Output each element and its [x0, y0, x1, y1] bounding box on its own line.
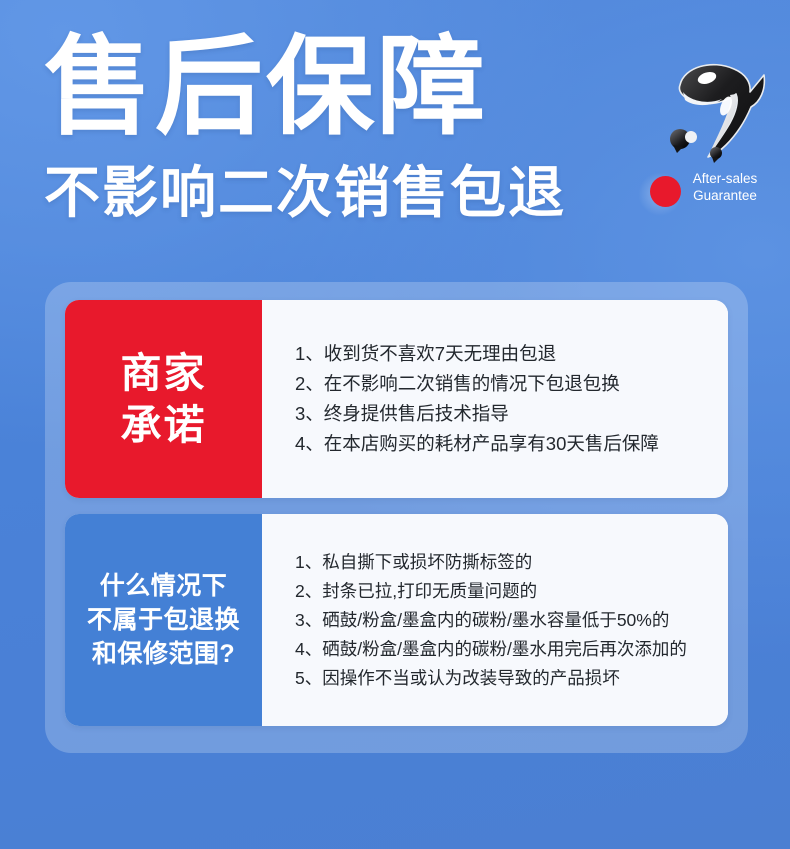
list-item: 4、硒鼓/粉盒/墨盒内的碳粉/墨水用完后再次添加的 [295, 635, 714, 664]
page-subtitle: 不影响二次销售包退 [44, 165, 566, 221]
exclusions-card-label: 什么情况下 不属于包退换 和保修范围? [65, 514, 262, 726]
promo-banner: 售后保障 不影响二次销售包退 [0, 0, 790, 849]
list-item: 1、收到货不喜欢7天无理由包退 [295, 339, 714, 369]
promise-card-label: 商家 承诺 [65, 300, 262, 498]
exclusions-card: 什么情况下 不属于包退换 和保修范围? 1、私自撕下或损坏防撕标签的 2、封条已… [65, 514, 728, 726]
exclusions-label-line-1: 什么情况下 [87, 569, 240, 603]
promise-label-line-1: 商家 [121, 347, 207, 399]
list-item: 1、私自撕下或损坏防撕标签的 [295, 548, 714, 577]
exclusions-card-body: 1、私自撕下或损坏防撕标签的 2、封条已拉,打印无质量问题的 3、硒鼓/粉盒/墨… [262, 514, 728, 726]
badge-text: After-sales Guarantee [670, 170, 780, 204]
exclusions-label-line-3: 和保修范围? [87, 637, 240, 671]
after-sales-badge: After-sales Guarantee [630, 168, 780, 220]
promise-card-body: 1、收到货不喜欢7天无理由包退 2、在不影响二次销售的情况下包退包换 3、终身提… [262, 300, 728, 498]
promise-label-line-2: 承诺 [121, 399, 207, 451]
badge-line-2: Guarantee [670, 187, 780, 204]
orca-whale-icon [650, 45, 780, 175]
content-panel: 商家 承诺 1、收到货不喜欢7天无理由包退 2、在不影响二次销售的情况下包退包换… [45, 282, 748, 753]
list-item: 3、硒鼓/粉盒/墨盒内的碳粉/墨水容量低于50%的 [295, 606, 714, 635]
list-item: 3、终身提供售后技术指导 [295, 399, 714, 429]
list-item: 5、因操作不当或认为改装导致的产品损坏 [295, 664, 714, 693]
exclusions-label-line-2: 不属于包退换 [87, 603, 240, 637]
list-item: 4、在本店购买的耗材产品享有30天售后保障 [295, 429, 714, 459]
page-title: 售后保障 [44, 33, 488, 141]
promise-card: 商家 承诺 1、收到货不喜欢7天无理由包退 2、在不影响二次销售的情况下包退包换… [65, 300, 728, 498]
list-item: 2、在不影响二次销售的情况下包退包换 [295, 369, 714, 399]
list-item: 2、封条已拉,打印无质量问题的 [295, 577, 714, 606]
badge-line-1: After-sales [670, 170, 780, 187]
